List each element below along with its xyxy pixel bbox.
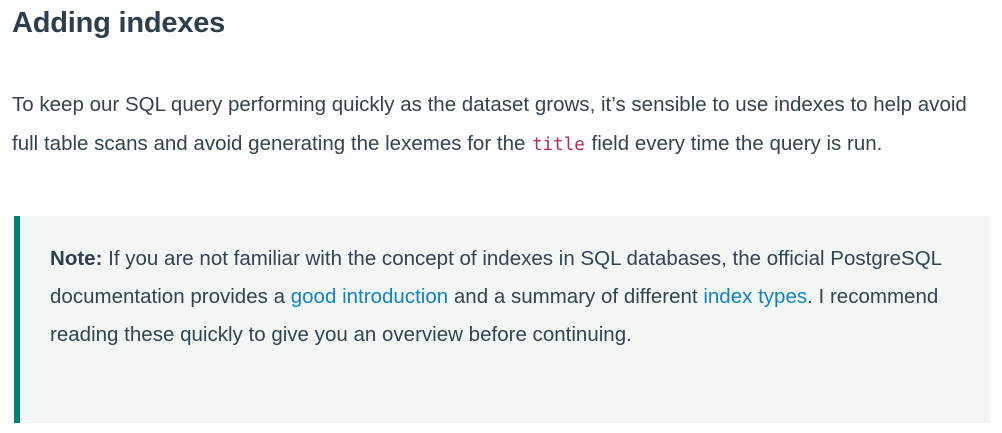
page-title: Adding indexes — [12, 0, 990, 43]
article-content: Adding indexes To keep our SQL query per… — [0, 0, 1002, 433]
note-label: Note: — [50, 247, 102, 270]
good-introduction-link[interactable]: good introduction — [291, 285, 448, 308]
inline-code-title: title — [531, 135, 586, 155]
index-types-link[interactable]: index types — [703, 285, 807, 308]
note-callout: Note: If you are not familiar with the c… — [14, 216, 990, 423]
note-text-segment-2: and a summary of different — [448, 285, 703, 308]
body-paragraph: To keep our SQL query performing quickly… — [12, 43, 990, 165]
paragraph-text-after-code: field every time the query is run. — [586, 132, 883, 155]
note-callout-text: Note: If you are not familiar with the c… — [50, 240, 964, 354]
